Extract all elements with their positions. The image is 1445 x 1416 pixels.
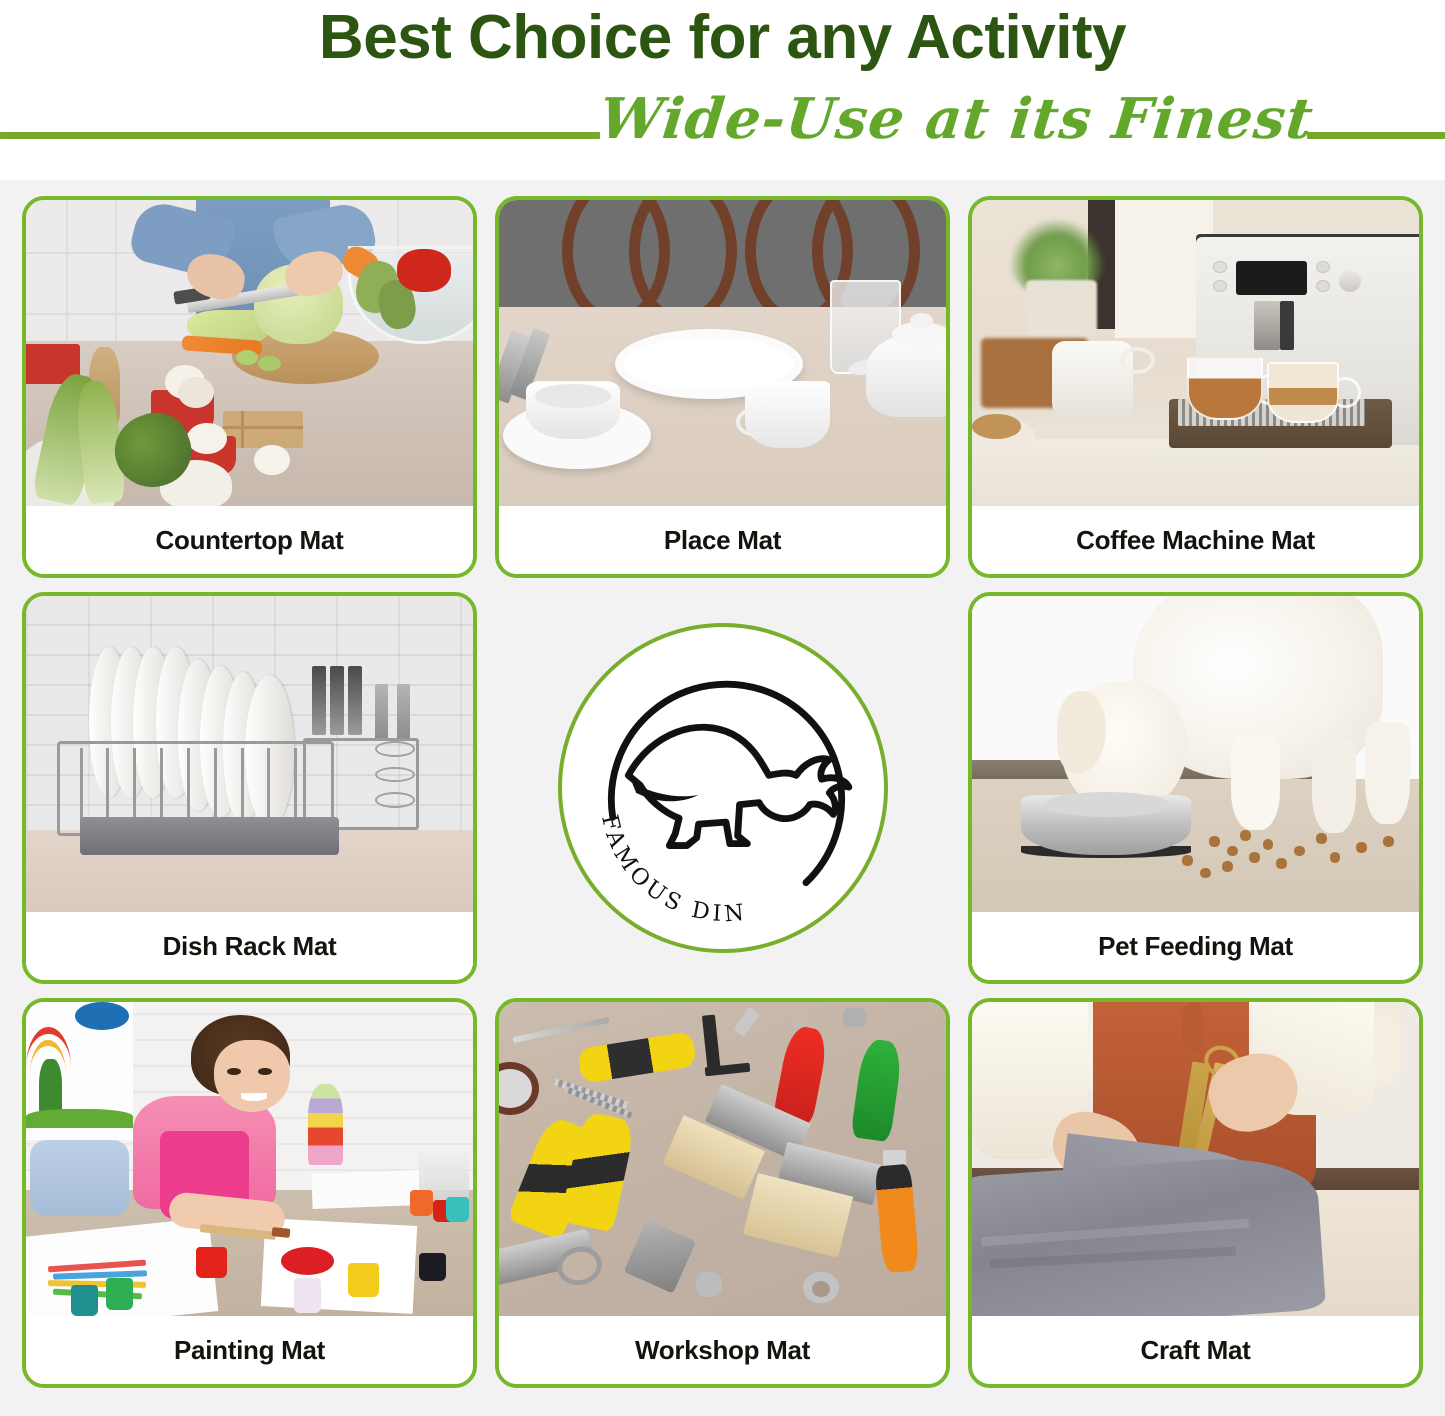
card-label: Countertop Mat	[26, 506, 473, 574]
card-dish-rack-mat[interactable]: Dish Rack Mat	[22, 592, 477, 984]
card-coffee-machine-mat[interactable]: Coffee Machine Mat	[968, 196, 1423, 578]
photo-pet-feeding-mat	[972, 596, 1419, 912]
card-pet-feeding-mat[interactable]: Pet Feeding Mat	[968, 592, 1423, 984]
photo-countertop-mat	[26, 200, 473, 506]
card-workshop-mat[interactable]: Workshop Mat	[495, 998, 950, 1388]
photo-place-mat	[499, 200, 946, 506]
card-label: Workshop Mat	[499, 1316, 946, 1384]
card-painting-mat[interactable]: Painting Mat	[22, 998, 477, 1388]
header-banner: Best Choice for any Activity Wide-Use at…	[0, 0, 1445, 180]
brand-logo: FAMOUS DINO	[495, 592, 950, 984]
logo-brand-text: FAMOUS DINO	[562, 627, 749, 927]
photo-craft-mat	[972, 1002, 1419, 1316]
subtitle-row: Wide-Use at its Finest	[0, 92, 1445, 172]
card-label: Place Mat	[499, 506, 946, 574]
photo-painting-mat	[26, 1002, 473, 1316]
rule-right	[1307, 132, 1445, 139]
rule-left	[0, 132, 600, 139]
svg-text:FAMOUS DINO: FAMOUS DINO	[562, 627, 749, 927]
card-place-mat[interactable]: Place Mat	[495, 196, 950, 578]
card-label: Coffee Machine Mat	[972, 506, 1419, 574]
photo-workshop-mat	[499, 1002, 946, 1316]
feature-grid: Countertop Mat Place Mat	[22, 196, 1423, 1396]
card-craft-mat[interactable]: Craft Mat	[968, 998, 1423, 1388]
card-countertop-mat[interactable]: Countertop Mat	[22, 196, 477, 578]
photo-dish-rack-mat	[26, 596, 473, 912]
card-label: Painting Mat	[26, 1316, 473, 1384]
dino-logo-icon: FAMOUS DINO	[562, 627, 884, 949]
page-subtitle: Wide-Use at its Finest	[597, 86, 1314, 152]
photo-coffee-machine-mat	[972, 200, 1419, 506]
page-title: Best Choice for any Activity	[0, 2, 1445, 73]
logo-circle: FAMOUS DINO	[558, 623, 888, 953]
card-label: Craft Mat	[972, 1316, 1419, 1384]
card-label: Dish Rack Mat	[26, 912, 473, 980]
card-label: Pet Feeding Mat	[972, 912, 1419, 980]
